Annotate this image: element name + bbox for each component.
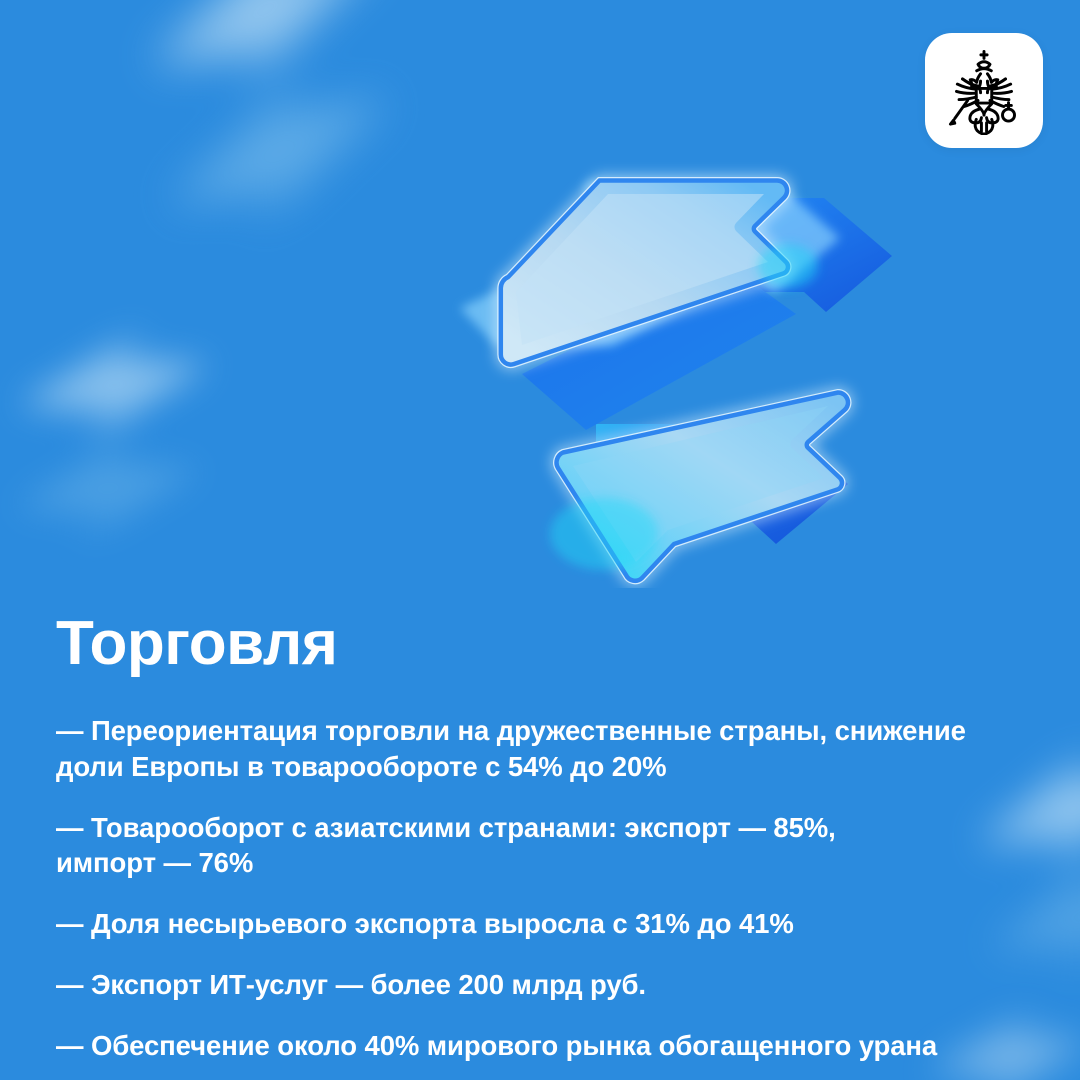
list-item: — Товарооборот с азиатскими странами: эк… <box>56 810 1026 882</box>
text-content: Торговля — Переориентация торговли на др… <box>56 612 1026 1063</box>
double-chevron-arrow-3d-logo-icon <box>436 138 906 588</box>
list-item: — Экспорт ИТ-услуг — более 200 млрд руб. <box>56 967 1026 1003</box>
page-title: Торговля <box>56 612 1026 675</box>
emblem-badge <box>925 33 1043 148</box>
list-item: — Обеспечение около 40% мирового рынка о… <box>56 1028 1026 1064</box>
russian-double-headed-eagle-icon <box>941 47 1027 135</box>
infographic-card: Торговля — Переориентация торговли на др… <box>0 0 1080 1080</box>
list-item: — Переориентация торговли на дружественн… <box>56 713 1026 785</box>
bullet-list: — Переориентация торговли на дружественн… <box>56 713 1026 1063</box>
background-ghost-logo-mid-left <box>0 292 248 559</box>
list-item: — Доля несырьевого экспорта выросла с 31… <box>56 906 1026 942</box>
background-ghost-logo-top-left <box>67 0 474 263</box>
